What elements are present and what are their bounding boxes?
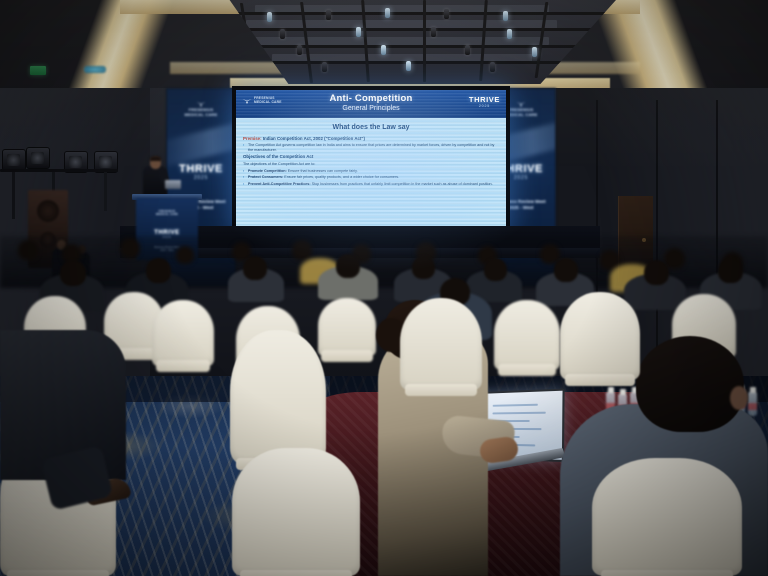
ceiling-spotlight [532, 47, 537, 57]
audience-head [292, 240, 312, 260]
slide-law-bullet: The Competition Act governs competition … [243, 143, 499, 152]
ceiling-spotlight [444, 9, 449, 19]
audience-head [412, 256, 435, 279]
blue-wall-light [84, 66, 106, 73]
ceiling-spotlight [465, 45, 470, 55]
conference-room-photo: FRESENIUS MEDICAL CARE THRIVE 2025 Busin… [0, 0, 768, 576]
presenter-hair [150, 156, 161, 161]
ceiling-spotlight [356, 27, 361, 37]
audience-head [18, 240, 38, 260]
ceiling-spotlight [297, 45, 302, 55]
ceiling-spotlight [322, 62, 327, 72]
audience-head [243, 256, 267, 280]
ceiling-spotlight [507, 29, 512, 39]
chair-cover [400, 298, 482, 390]
attendee-foreground-ear [730, 386, 748, 410]
slide-section-heading: What does the Law say [243, 122, 499, 134]
slide-subtitle: General Principles [236, 105, 506, 112]
podium-laptop [165, 180, 181, 189]
slide-law-title: Premise: Indian Competition Act, 2002 ("… [243, 136, 499, 141]
chair-cover [494, 300, 560, 370]
audience-head [146, 258, 171, 283]
slide-objectives-intro: The objectives of the Competition Act ar… [243, 162, 499, 166]
slide-objective-item: Prevent Anti-Competitive Practices: Stop… [243, 182, 499, 187]
ceiling-spotlight [490, 62, 495, 72]
slide-body: What does the Law say Premise: Indian Co… [236, 118, 506, 236]
par-light-icon [2, 149, 26, 171]
audience-head [60, 260, 86, 286]
ceiling-spotlight [431, 27, 436, 37]
chair-cover [232, 448, 360, 576]
slide-header: FRESENIUS MEDICAL CARE Anti- Competition… [236, 90, 506, 118]
audience-head [120, 238, 140, 258]
chair-cover [318, 298, 376, 356]
ceiling-spotlight [385, 8, 390, 18]
water-bottle[interactable] [748, 392, 757, 416]
chair-cover [560, 292, 640, 380]
audience-head [176, 246, 194, 264]
audience-head [644, 260, 669, 285]
par-light-icon [26, 147, 50, 169]
presentation-slide: FRESENIUS MEDICAL CARE Anti- Competition… [236, 90, 506, 236]
ceiling-spotlight [267, 12, 272, 22]
ceiling [0, 0, 768, 96]
ceiling-spotlight [381, 45, 386, 55]
slide-title: Anti- Competition [236, 93, 506, 104]
audience-head [484, 258, 507, 281]
slide-objective-item: Protect Consumers: Ensure fair prices, q… [243, 175, 499, 180]
banner-brand-logo: FRESENIUS MEDICAL CARE [167, 101, 235, 117]
audience-head [554, 258, 578, 282]
ceiling-spotlight [406, 61, 411, 71]
ceiling-spotlight [280, 29, 285, 39]
chair-cover [230, 330, 326, 464]
chair-cover [592, 458, 742, 576]
slide-thrive-logo: THRIVE 2025 [469, 95, 500, 108]
podium-brand-logo: FRESENIUS MEDICAL CARE [136, 210, 198, 216]
projection-screen: FRESENIUS MEDICAL CARE Anti- Competition… [232, 86, 510, 240]
slide-objective-item: Promote Competition: Ensure that busines… [243, 169, 499, 174]
slide-objectives-heading: Objectives of the Competition Act [243, 154, 499, 159]
chair-cover [152, 300, 214, 366]
audience-head [336, 254, 360, 278]
attendee-foreground-head [636, 336, 744, 432]
audience-head [718, 258, 743, 283]
ceiling-spotlight [503, 11, 508, 21]
thrive-logo: THRIVE 2025 [167, 163, 235, 181]
exit-sign [30, 66, 46, 75]
ceiling-spotlight [326, 10, 331, 20]
